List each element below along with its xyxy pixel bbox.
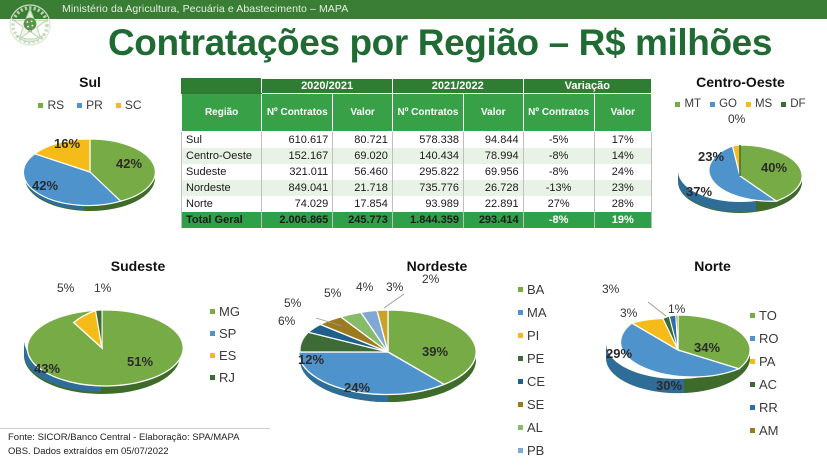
- total-regiao: Total Geral: [182, 212, 262, 228]
- cell-valor-2021: 69.020: [333, 148, 393, 164]
- legend-label: PE: [527, 351, 544, 366]
- cell-valor-2022: 78.994: [463, 148, 523, 164]
- chart-norte-label-am: 1%: [668, 302, 685, 316]
- cell-contratos-2022: 578.338: [392, 132, 463, 148]
- legend-item-ma: MA: [518, 305, 547, 320]
- table-row: Sudeste321.01156.460295.82269.956-8%24%: [182, 164, 652, 180]
- legend-label: AM: [759, 423, 779, 438]
- cell-contratos-2022: 140.434: [392, 148, 463, 164]
- contracts-table-container: 2020/2021 2021/2022 Variação Região Nº C…: [181, 78, 652, 228]
- table-row: Centro-Oeste152.16769.020140.43478.994-8…: [182, 148, 652, 164]
- legend-label: RO: [759, 331, 779, 346]
- footer-obs: OBS. Dados extraídos em 05/07/2022: [8, 445, 239, 459]
- cell-var-contratos: -5%: [523, 132, 594, 148]
- cell-var-valor: 23%: [594, 180, 651, 196]
- chart-norte-label-ro: 30%: [656, 378, 682, 393]
- legend-swatch-icon: [750, 359, 755, 364]
- chart-co-label-mt: 40%: [761, 160, 787, 175]
- legend-item-sp: SP: [210, 326, 240, 341]
- cell-regiao: Sul: [182, 132, 262, 148]
- legend-item-rj: RJ: [210, 370, 240, 385]
- chart-sul: Sul RSPRSC 42% 42% 16%: [2, 74, 178, 228]
- legend-label: AC: [759, 377, 777, 392]
- chart-sudeste-pie-area: 51% 43% 5% 1% MGSPESRJ: [2, 286, 274, 426]
- chart-nordeste-legend: BAMAPIPECESEALPBRN: [518, 282, 547, 465]
- legend-swatch-icon: [77, 103, 82, 108]
- chart-co-legend: MTGOMSDF: [654, 98, 827, 110]
- contracts-table: 2020/2021 2021/2022 Variação Região Nº C…: [181, 78, 652, 228]
- chart-sul-pie-area: 42% 42% 16%: [2, 116, 178, 228]
- cell-regiao: Sudeste: [182, 164, 262, 180]
- legend-item-pi: PI: [518, 328, 547, 343]
- legend-swatch-icon: [518, 356, 523, 361]
- ministry-title: Ministério da Agricultura, Pecuária e Ab…: [62, 3, 348, 15]
- legend-label: MS: [755, 98, 772, 110]
- chart-nordeste-label-ce: 5%: [284, 296, 301, 310]
- chart-centro-oeste: Centro-Oeste MTGOMSDF 40% 37% 23% 0%: [654, 74, 827, 239]
- legend-swatch-icon: [38, 103, 43, 108]
- cell-contratos-2022: 93.989: [392, 196, 463, 212]
- legend-item-ms: MS: [746, 98, 772, 110]
- chart-sul-label-sc: 16%: [54, 136, 80, 151]
- legend-item-to: TO: [750, 308, 779, 323]
- legend-label: PB: [527, 443, 544, 458]
- col-contratos-2021: Nº Contratos: [262, 94, 333, 132]
- total-valor-2022: 293.414: [463, 212, 523, 228]
- legend-swatch-icon: [750, 382, 755, 387]
- legend-item-pe: PE: [518, 351, 547, 366]
- cell-contratos-2022: 295.822: [392, 164, 463, 180]
- cell-contratos-2021: 610.617: [262, 132, 333, 148]
- table-row: Sul610.61780.721578.33894.844-5%17%: [182, 132, 652, 148]
- legend-label: MG: [219, 304, 240, 319]
- legend-label: CE: [527, 374, 545, 389]
- legend-swatch-icon: [781, 102, 786, 107]
- legend-swatch-icon: [518, 448, 523, 453]
- legend-item-ba: BA: [518, 282, 547, 297]
- chart-nordeste-label-pi: 12%: [298, 352, 324, 367]
- legend-swatch-icon: [210, 375, 215, 380]
- legend-label: SP: [219, 326, 236, 341]
- legend-swatch-icon: [518, 425, 523, 430]
- col-regiao: Região: [182, 94, 262, 132]
- group-header-2021-2022: 2021/2022: [392, 79, 523, 94]
- cell-var-valor: 14%: [594, 148, 651, 164]
- cell-var-contratos: -8%: [523, 164, 594, 180]
- svg-text:III: III: [28, 28, 33, 33]
- chart-norte-pie-area: 34% 30% 29% 3% 3% 1% TOROPAACRRAM: [598, 294, 827, 434]
- cell-valor-2022: 26.728: [463, 180, 523, 196]
- footer-source: Fonte: SICOR/Banco Central - Elaboração:…: [8, 431, 239, 445]
- chart-sudeste: Sudeste 51% 43% 5% 1% MGSPESRJ: [2, 258, 274, 426]
- chart-nordeste-label-se: 5%: [324, 286, 341, 300]
- legend-label: SE: [527, 397, 544, 412]
- col-contratos-2022: Nº Contratos: [392, 94, 463, 132]
- group-header-2020-2021: 2020/2021: [262, 79, 393, 94]
- legend-label: DF: [790, 98, 805, 110]
- legend-label: RR: [759, 400, 778, 415]
- cell-var-valor: 28%: [594, 196, 651, 212]
- chart-norte-label-rr: 3%: [602, 282, 619, 296]
- cell-var-contratos: -13%: [523, 180, 594, 196]
- table-row: Norte74.02917.85493.98922.89127%28%: [182, 196, 652, 212]
- cell-var-contratos: 27%: [523, 196, 594, 212]
- legend-swatch-icon: [675, 102, 680, 107]
- chart-co-label-go: 37%: [686, 184, 712, 199]
- chart-norte-label-to: 34%: [694, 340, 720, 355]
- legend-swatch-icon: [518, 287, 523, 292]
- total-contratos-2022: 1.844.359: [392, 212, 463, 228]
- legend-item-am: AM: [750, 423, 779, 438]
- chart-sul-legend: RSPRSC: [2, 98, 178, 112]
- chart-nordeste-label-pe: 6%: [278, 314, 295, 328]
- legend-swatch-icon: [750, 405, 755, 410]
- legend-swatch-icon: [518, 310, 523, 315]
- table-total-row: Total Geral2.006.865245.7731.844.359293.…: [182, 212, 652, 228]
- legend-item-ce: CE: [518, 374, 547, 389]
- total-var-valor: 19%: [594, 212, 651, 228]
- legend-label: RS: [47, 98, 64, 112]
- cell-contratos-2022: 735.776: [392, 180, 463, 196]
- cell-valor-2021: 56.460: [333, 164, 393, 180]
- total-contratos-2021: 2.006.865: [262, 212, 333, 228]
- chart-norte-title: Norte: [598, 258, 827, 274]
- legend-item-es: ES: [210, 348, 240, 363]
- legend-swatch-icon: [210, 309, 215, 314]
- cell-regiao: Norte: [182, 196, 262, 212]
- chart-sudeste-label-es: 5%: [57, 281, 74, 295]
- chart-nordeste: Nordeste 39% 24% 12% 6: [282, 258, 592, 444]
- legend-label: TO: [759, 308, 777, 323]
- brazil-coat-of-arms-icon: III: [6, 1, 54, 51]
- legend-label: PA: [759, 354, 775, 369]
- chart-nordeste-label-al: 4%: [356, 280, 373, 294]
- chart-nordeste-label-rn: 2%: [422, 272, 439, 286]
- legend-item-al: AL: [518, 420, 547, 435]
- legend-item-rs: RS: [38, 98, 64, 112]
- col-var-valor: Valor: [594, 94, 651, 132]
- legend-item-sc: SC: [116, 98, 142, 112]
- legend-swatch-icon: [518, 402, 523, 407]
- chart-sul-pie: [2, 116, 178, 228]
- cell-var-valor: 24%: [594, 164, 651, 180]
- chart-sudeste-label-rj: 1%: [94, 281, 111, 295]
- cell-contratos-2021: 152.167: [262, 148, 333, 164]
- legend-item-mt: MT: [675, 98, 701, 110]
- cell-var-contratos: -8%: [523, 148, 594, 164]
- chart-sudeste-legend: MGSPESRJ: [210, 304, 240, 385]
- legend-item-ro: RO: [750, 331, 779, 346]
- chart-sul-title: Sul: [2, 74, 178, 90]
- chart-sudeste-pie: [2, 286, 202, 416]
- cell-contratos-2021: 74.029: [262, 196, 333, 212]
- legend-label: PR: [86, 98, 103, 112]
- legend-swatch-icon: [750, 336, 755, 341]
- cell-regiao: Centro-Oeste: [182, 148, 262, 164]
- chart-sudeste-label-sp: 43%: [34, 361, 60, 376]
- col-valor-2021: Valor: [333, 94, 393, 132]
- legend-label: ES: [219, 348, 236, 363]
- chart-sudeste-label-mg: 51%: [127, 354, 153, 369]
- col-var-contratos: Nº Contratos: [523, 94, 594, 132]
- legend-swatch-icon: [750, 313, 755, 318]
- legend-label: GO: [719, 98, 737, 110]
- total-valor-2021: 245.773: [333, 212, 393, 228]
- chart-co-pie: [654, 124, 827, 239]
- cell-var-valor: 17%: [594, 132, 651, 148]
- legend-item-rr: RR: [750, 400, 779, 415]
- legend-label: MA: [527, 305, 547, 320]
- legend-swatch-icon: [210, 353, 215, 358]
- chart-nordeste-label-ba: 39%: [422, 344, 448, 359]
- chart-nordeste-label-ma: 24%: [344, 380, 370, 395]
- chart-sudeste-title: Sudeste: [2, 258, 274, 274]
- chart-sul-label-rs: 42%: [116, 156, 142, 171]
- legend-label: RJ: [219, 370, 235, 385]
- chart-norte: Norte 34% 30% 29% 3% 3% 1% TOROPAACRRAM: [598, 258, 827, 434]
- total-var-contratos: -8%: [523, 212, 594, 228]
- cell-valor-2022: 22.891: [463, 196, 523, 212]
- legend-item-ac: AC: [750, 377, 779, 392]
- legend-swatch-icon: [750, 428, 755, 433]
- chart-co-pie-area: 40% 37% 23% 0%: [654, 124, 827, 239]
- table-group-header-row: 2020/2021 2021/2022 Variação: [182, 79, 652, 94]
- cell-valor-2022: 94.844: [463, 132, 523, 148]
- cell-contratos-2021: 321.011: [262, 164, 333, 180]
- legend-item-df: DF: [781, 98, 805, 110]
- cell-valor-2021: 80.721: [333, 132, 393, 148]
- chart-norte-label-pa: 29%: [606, 346, 632, 361]
- legend-item-pr: PR: [77, 98, 103, 112]
- legend-swatch-icon: [746, 102, 751, 107]
- legend-item-se: SE: [518, 397, 547, 412]
- cell-regiao: Nordeste: [182, 180, 262, 196]
- cell-contratos-2021: 849.041: [262, 180, 333, 196]
- table-row: Nordeste849.04121.718735.77626.728-13%23…: [182, 180, 652, 196]
- cell-valor-2021: 21.718: [333, 180, 393, 196]
- legend-swatch-icon: [518, 379, 523, 384]
- legend-item-pa: PA: [750, 354, 779, 369]
- chart-co-label-ms: 23%: [698, 149, 724, 164]
- col-valor-2022: Valor: [463, 94, 523, 132]
- legend-item-pb: PB: [518, 443, 547, 458]
- group-header-blank: [182, 79, 262, 94]
- chart-nordeste-pie-area: 39% 24% 12% 6% 5% 5% 4% 3% 2% BAMAPIPECE…: [282, 294, 592, 444]
- legend-label: SC: [125, 98, 142, 112]
- chart-sul-label-pr: 42%: [32, 178, 58, 193]
- footer-note: Fonte: SICOR/Banco Central - Elaboração:…: [8, 431, 239, 459]
- chart-norte-label-ac: 3%: [620, 306, 637, 320]
- chart-co-label-df: 0%: [728, 112, 745, 126]
- footer-divider: [0, 428, 270, 429]
- legend-item-go: GO: [710, 98, 737, 110]
- legend-swatch-icon: [210, 331, 215, 336]
- cell-valor-2021: 17.854: [333, 196, 393, 212]
- legend-label: BA: [527, 282, 544, 297]
- group-header-variacao: Variação: [523, 79, 651, 94]
- legend-label: AL: [527, 420, 543, 435]
- chart-co-title: Centro-Oeste: [654, 74, 827, 90]
- legend-label: PI: [527, 328, 539, 343]
- legend-item-mg: MG: [210, 304, 240, 319]
- page-title: Contratações por Região – R$ milhões: [60, 22, 820, 64]
- table-body: Sul610.61780.721578.33894.844-5%17%Centr…: [182, 132, 652, 228]
- table-column-header-row: Região Nº Contratos Valor Nº Contratos V…: [182, 94, 652, 132]
- cell-valor-2022: 69.956: [463, 164, 523, 180]
- legend-swatch-icon: [710, 102, 715, 107]
- legend-label: MT: [684, 98, 701, 110]
- legend-swatch-icon: [518, 333, 523, 338]
- chart-nordeste-label-pb: 3%: [386, 280, 403, 294]
- chart-norte-legend: TOROPAACRRAM: [750, 308, 779, 438]
- legend-swatch-icon: [116, 103, 121, 108]
